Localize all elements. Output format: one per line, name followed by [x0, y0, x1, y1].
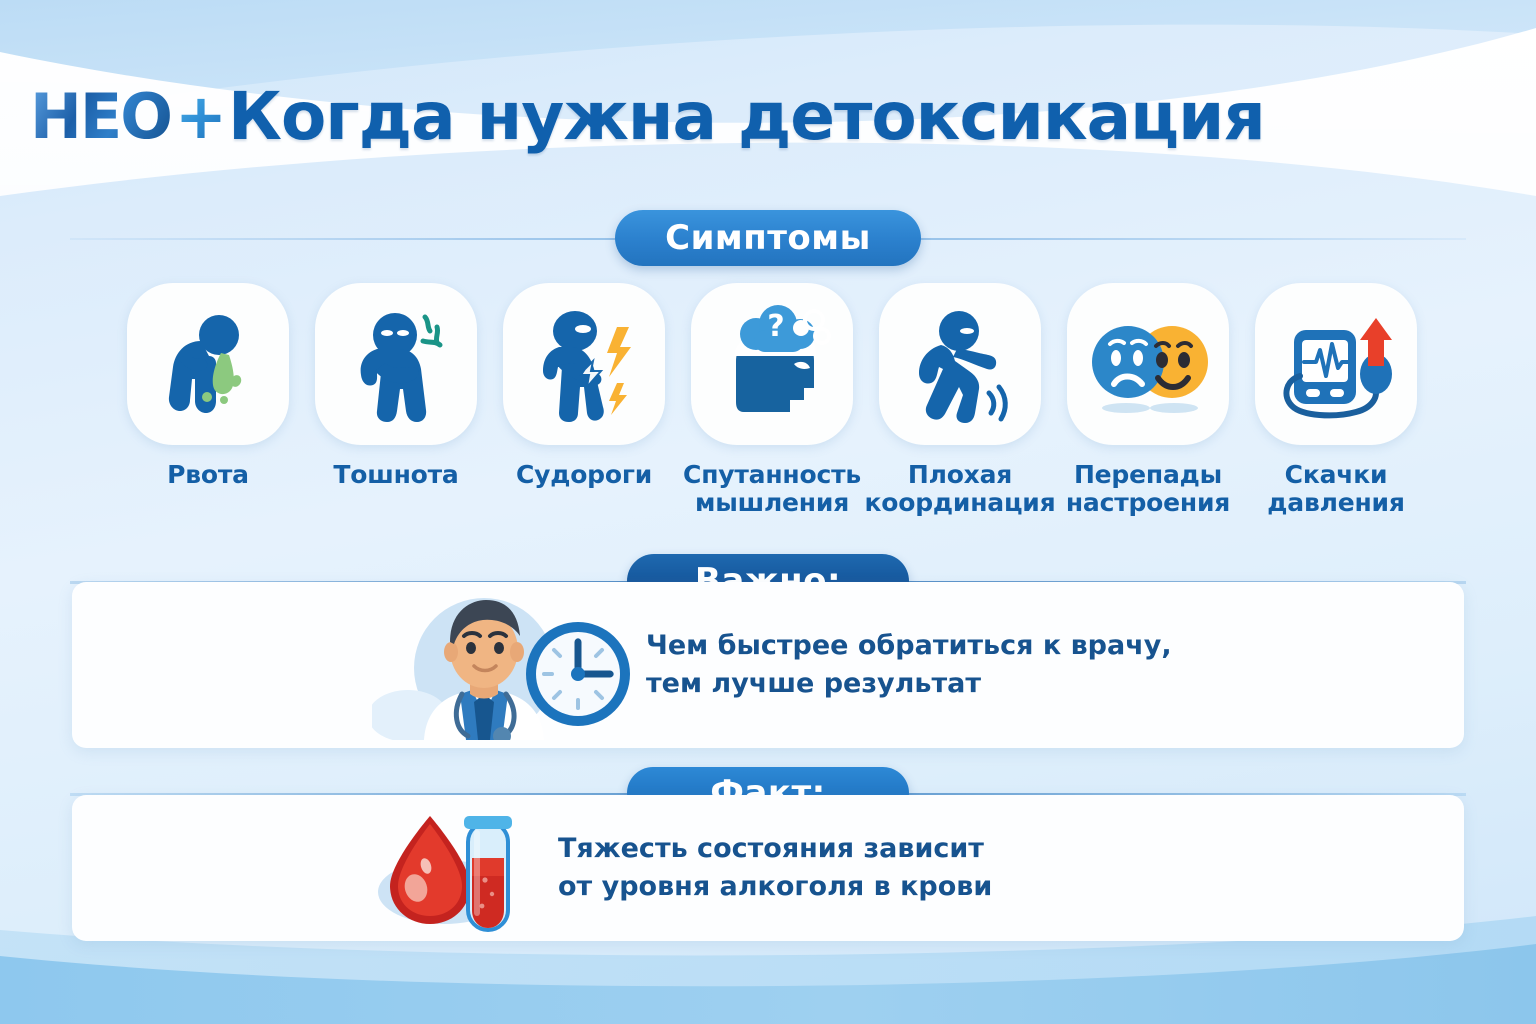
symptom-label: Судороги	[516, 461, 652, 489]
symptom-card[interactable]	[1255, 283, 1417, 445]
symptom-card[interactable]: ?	[691, 283, 853, 445]
page-title: Когда нужна детоксикация	[228, 84, 1265, 150]
poor-balance-icon	[897, 301, 1023, 427]
important-line-2: тем лучше результат	[646, 665, 1172, 703]
badge-symptoms: Симптомы	[615, 210, 921, 266]
symptom-item[interactable]: Перепады настроения	[1062, 283, 1234, 517]
symptom-label: Спутанность мышления	[683, 461, 861, 517]
symptom-item[interactable]: Скачки давления	[1250, 283, 1422, 517]
symptom-card[interactable]	[879, 283, 1041, 445]
fact-panel: Тяжесть состояния зависит от уровня алко…	[72, 795, 1464, 941]
blood-drop-test-tube-icon	[372, 800, 542, 936]
symptom-card[interactable]	[503, 283, 665, 445]
svg-text:?: ?	[767, 309, 784, 344]
important-line-1: Чем быстрее обратиться к врачу,	[646, 627, 1172, 665]
symptom-label: Тошнота	[333, 461, 458, 489]
infographic-root: HEO + Когда нужна детоксикация Симптомы	[0, 0, 1536, 1024]
symptom-item[interactable]: Судороги	[498, 283, 670, 517]
blood-pressure-icon	[1272, 300, 1400, 428]
important-panel: Чем быстрее обратиться к врачу, тем лучш…	[72, 582, 1464, 748]
symptom-label: Скачки давления	[1250, 461, 1422, 517]
fact-text: Тяжесть состояния зависит от уровня алко…	[558, 830, 992, 907]
important-text: Чем быстрее обратиться к врачу, тем лучш…	[646, 627, 1172, 704]
doctor-with-clock-icon	[372, 590, 632, 740]
logo-text: HEO	[30, 86, 171, 148]
nausea-icon	[333, 301, 459, 427]
symptom-item[interactable]: Тошнота	[310, 283, 482, 517]
logo-plus-icon: +	[175, 86, 225, 148]
symptom-label: Плохая координация	[865, 461, 1056, 517]
symptom-item[interactable]: ? Спутанность мышления	[686, 283, 858, 517]
symptom-card[interactable]	[315, 283, 477, 445]
symptom-label: Перепады настроения	[1062, 461, 1234, 517]
fact-line-1: Тяжесть состояния зависит	[558, 830, 992, 868]
cramps-icon	[521, 301, 647, 427]
symptom-item[interactable]: Плохая координация	[874, 283, 1046, 517]
mood-swings-icon	[1084, 300, 1212, 428]
brand-logo[interactable]: HEO +	[30, 86, 225, 148]
vomiting-icon	[145, 301, 271, 427]
fact-line-2: от уровня алкоголя в крови	[558, 868, 992, 906]
header: HEO + Когда нужна детоксикация	[0, 0, 1536, 190]
symptoms-list: Рвота	[122, 283, 1422, 517]
symptom-card[interactable]	[127, 283, 289, 445]
symptom-card[interactable]	[1067, 283, 1229, 445]
symptom-label: Рвота	[167, 461, 249, 489]
symptom-item[interactable]: Рвота	[122, 283, 294, 517]
confusion-icon: ?	[708, 300, 836, 428]
